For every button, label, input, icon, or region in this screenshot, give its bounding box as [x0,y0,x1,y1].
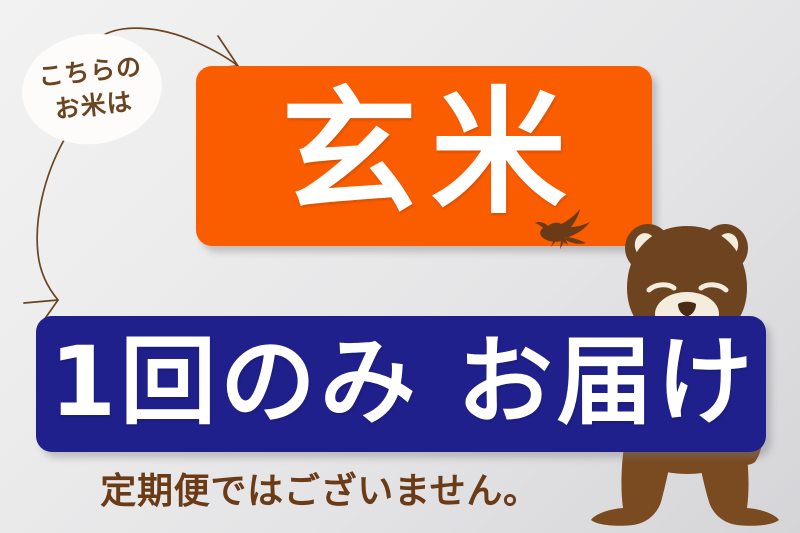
arrow-top-head [204,36,238,69]
speech-bubble-ellipse [20,31,164,147]
speech-bubble: こちらの お米は [20,31,164,147]
orange-banner-label: 玄米 [268,86,581,222]
speech-bubble-shape [20,31,164,147]
blue-banner-label: 1回のみ お届け [46,334,757,430]
caption-text: 定期便ではございません。 [0,462,640,514]
arrow-bottom-curve [37,140,64,300]
blue-banner[interactable]: 1回のみ お届け [36,316,766,452]
promo-banner-canvas: こちらの お米は 玄米 [0,0,800,533]
